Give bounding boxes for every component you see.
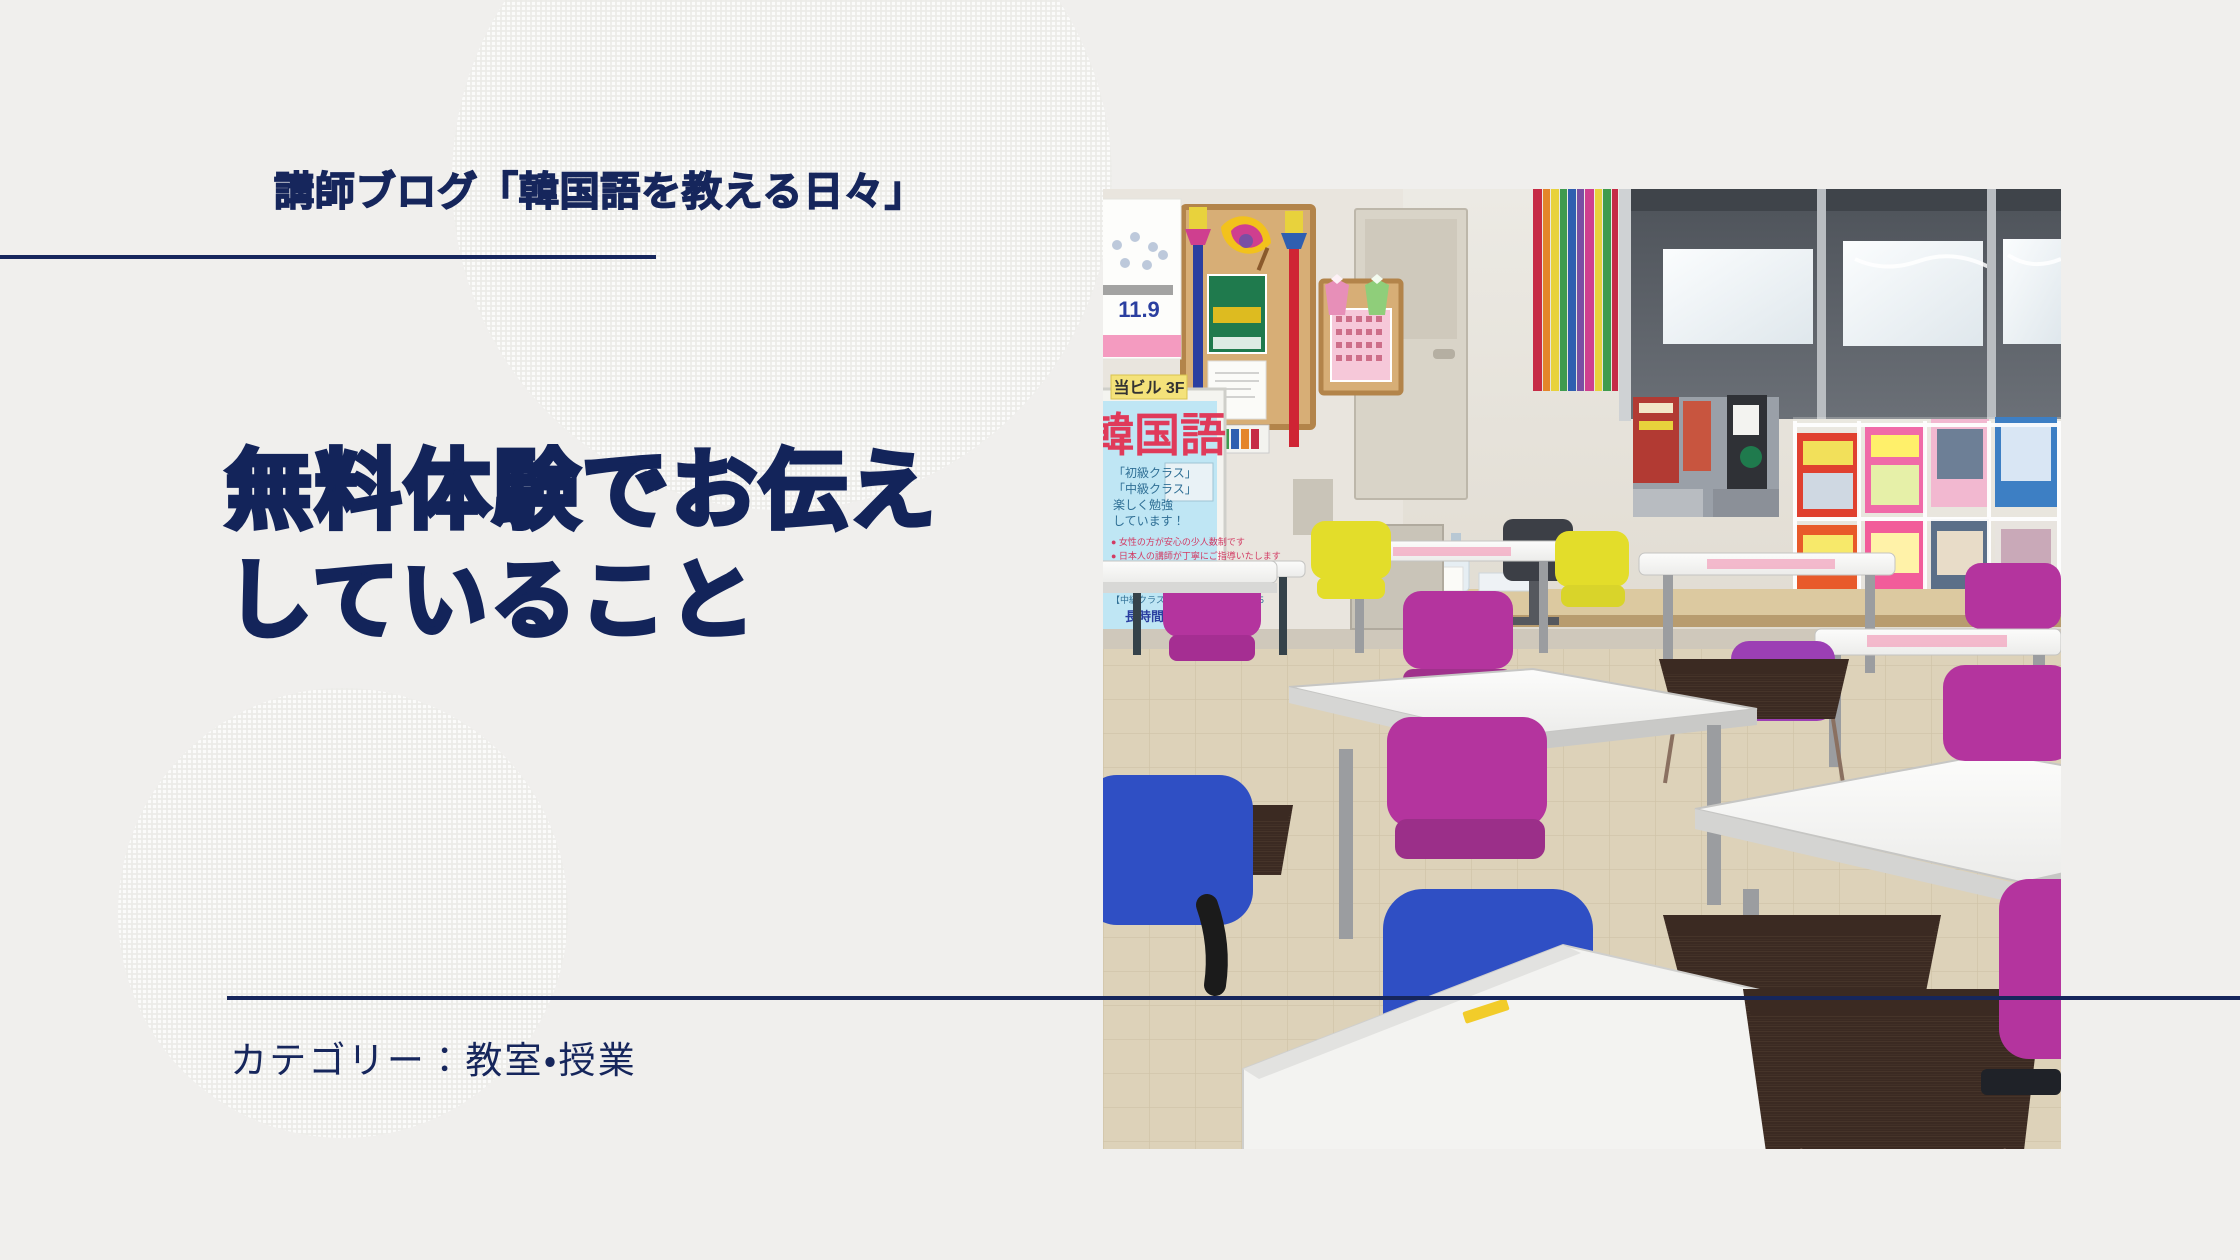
chair-yellow-back xyxy=(1311,521,1391,599)
divider-rule-top xyxy=(0,255,656,259)
chair-magenta-right xyxy=(1943,665,2061,761)
svg-text:しています！: しています！ xyxy=(1113,514,1185,528)
svg-text:当ビル 3F: 当ビル 3F xyxy=(1113,378,1184,397)
poster-exam: 11.9 xyxy=(1103,199,1181,359)
page-title-line-1: 無料体験でお伝え xyxy=(226,436,1016,546)
svg-text:● 日本人の講師が丁寧にご指導いたします: ● 日本人の講師が丁寧にご指導いたします xyxy=(1111,550,1281,561)
svg-text:11.9: 11.9 xyxy=(1118,297,1160,322)
svg-text:「中級クラス」: 「中級クラス」 xyxy=(1113,481,1197,496)
chair-frame xyxy=(1981,1069,2061,1095)
category-label: カテゴリー：教室・授業 xyxy=(230,1030,637,1084)
svg-text:韓国語: 韓国語 xyxy=(1103,409,1226,461)
blog-series-kicker: 講師ブログ「韓国語を教える日々」 xyxy=(274,168,926,216)
saekdong-stripes xyxy=(1533,189,1618,391)
svg-text:長時間: 長時間 xyxy=(1125,609,1164,624)
eyecatch-canvas: 講師ブログ「韓国語を教える日々」 無料体験でお伝え していること カテゴリー：教… xyxy=(0,0,2240,1260)
page-title-line-2: していること xyxy=(226,546,1016,656)
svg-text:楽しく勉強: 楽しく勉強 xyxy=(1113,498,1173,512)
divider-rule-bottom xyxy=(227,996,2240,1000)
chair-magenta-foreground xyxy=(1999,879,2061,1059)
svg-text:「初級クラス」: 「初級クラス」 xyxy=(1113,466,1197,480)
classroom-photo: 11.9 当ビル 3F 韓国語 「初級クラス」 「中級クラス」 楽しく勉強 して… xyxy=(1103,189,2061,1149)
poster-hangul-chart xyxy=(1321,274,1401,393)
seoul-street-photo-panel xyxy=(1633,395,1779,517)
chair-yellow-back-2 xyxy=(1555,531,1629,607)
chair-magenta-front xyxy=(1387,717,1547,859)
page-title: 無料体験でお伝え していること xyxy=(226,436,1016,656)
svg-text:● 女性の方が安心の少人数制です: ● 女性の方が安心の少人数制です xyxy=(1111,536,1245,547)
chair-magenta-back-2 xyxy=(1965,563,2061,629)
